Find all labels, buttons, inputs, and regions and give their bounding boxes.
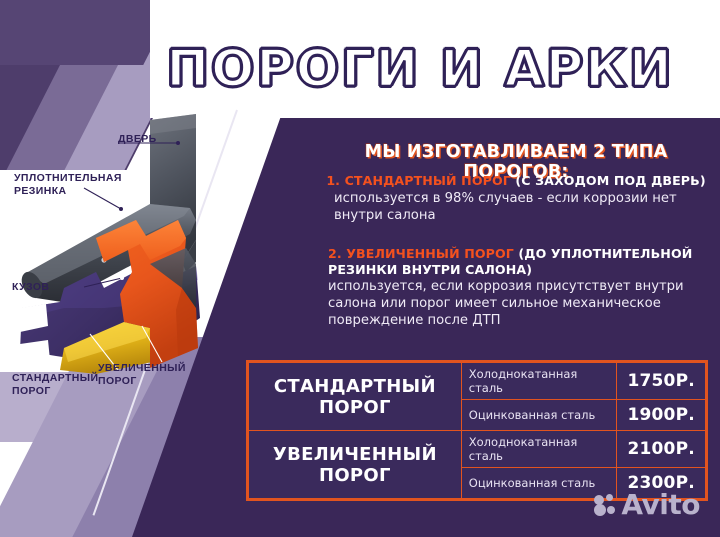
callout-standard-sill: СТАНДАРТНЫЙ ПОРОГ [12,372,86,398]
table-category-standard: СТАНДАРТНЫЙ ПОРОГ [249,363,462,431]
page-title: ПОРОГИ И АРКИ [140,44,700,95]
page-title-text: ПОРОГИ И АРКИ [166,44,673,95]
callout-enlarged-sill: УВЕЛИЧЕННЫЙ ПОРОГ [98,362,178,388]
section-standard-number: 1. [326,173,340,188]
table-material: Холоднокатанная сталь [461,431,617,468]
table-row: СТАНДАРТНЫЙ ПОРОГ Холоднокатанная сталь … [249,363,706,400]
section-standard-body: используется в 98% случаев - если корроз… [316,191,716,225]
table-row: УВЕЛИЧЕННЫЙ ПОРОГ Холоднокатанная сталь … [249,431,706,468]
section-standard-highlight: СТАНДАРТНЫЙ ПОРОГ [345,173,511,188]
table-material: Оцинкованная сталь [461,400,617,431]
callout-rubber-seal: УПЛОТНИТЕЛЬНАЯ РЕЗИНКА [14,172,110,198]
avito-dots-icon [594,494,616,516]
callout-door: ДВЕРЬ [118,133,157,146]
table-category-enlarged: УВЕЛИЧЕННЫЙ ПОРОГ [249,431,462,499]
section-enlarged-body: используется, если коррозия присутствует… [316,279,716,330]
avito-watermark: Avito [594,491,700,519]
table-price: 1900Р. [617,400,706,431]
avito-wordmark: Avito [621,491,700,519]
table-price: 1750Р. [617,363,706,400]
poster-root: ПОРОГИ И АРКИ [0,0,720,537]
section-standard-title: 1. СТАНДАРТНЫЙ ПОРОГ (С ЗАХОДОМ ПОД ДВЕР… [316,173,716,189]
section-standard-suffix: (С ЗАХОДОМ ПОД ДВЕРЬ) [515,173,705,188]
section-enlarged: 2. УВЕЛИЧЕННЫЙ ПОРОГ (ДО УПЛОТНИТЕЛЬНОЙ … [316,246,716,330]
table-material: Холоднокатанная сталь [461,363,617,400]
price-table: СТАНДАРТНЫЙ ПОРОГ Холоднокатанная сталь … [246,360,708,501]
sill-cross-section-illustration [0,112,300,372]
table-price: 2100Р. [617,431,706,468]
section-enlarged-highlight: УВЕЛИЧЕННЫЙ ПОРОГ [346,246,514,261]
section-enlarged-number: 2. [328,246,342,261]
callout-body: КУЗОВ [12,281,49,294]
section-enlarged-title: 2. УВЕЛИЧЕННЫЙ ПОРОГ (ДО УПЛОТНИТЕЛЬНОЙ … [316,246,716,277]
section-standard: 1. СТАНДАРТНЫЙ ПОРОГ (С ЗАХОДОМ ПОД ДВЕР… [316,173,716,225]
